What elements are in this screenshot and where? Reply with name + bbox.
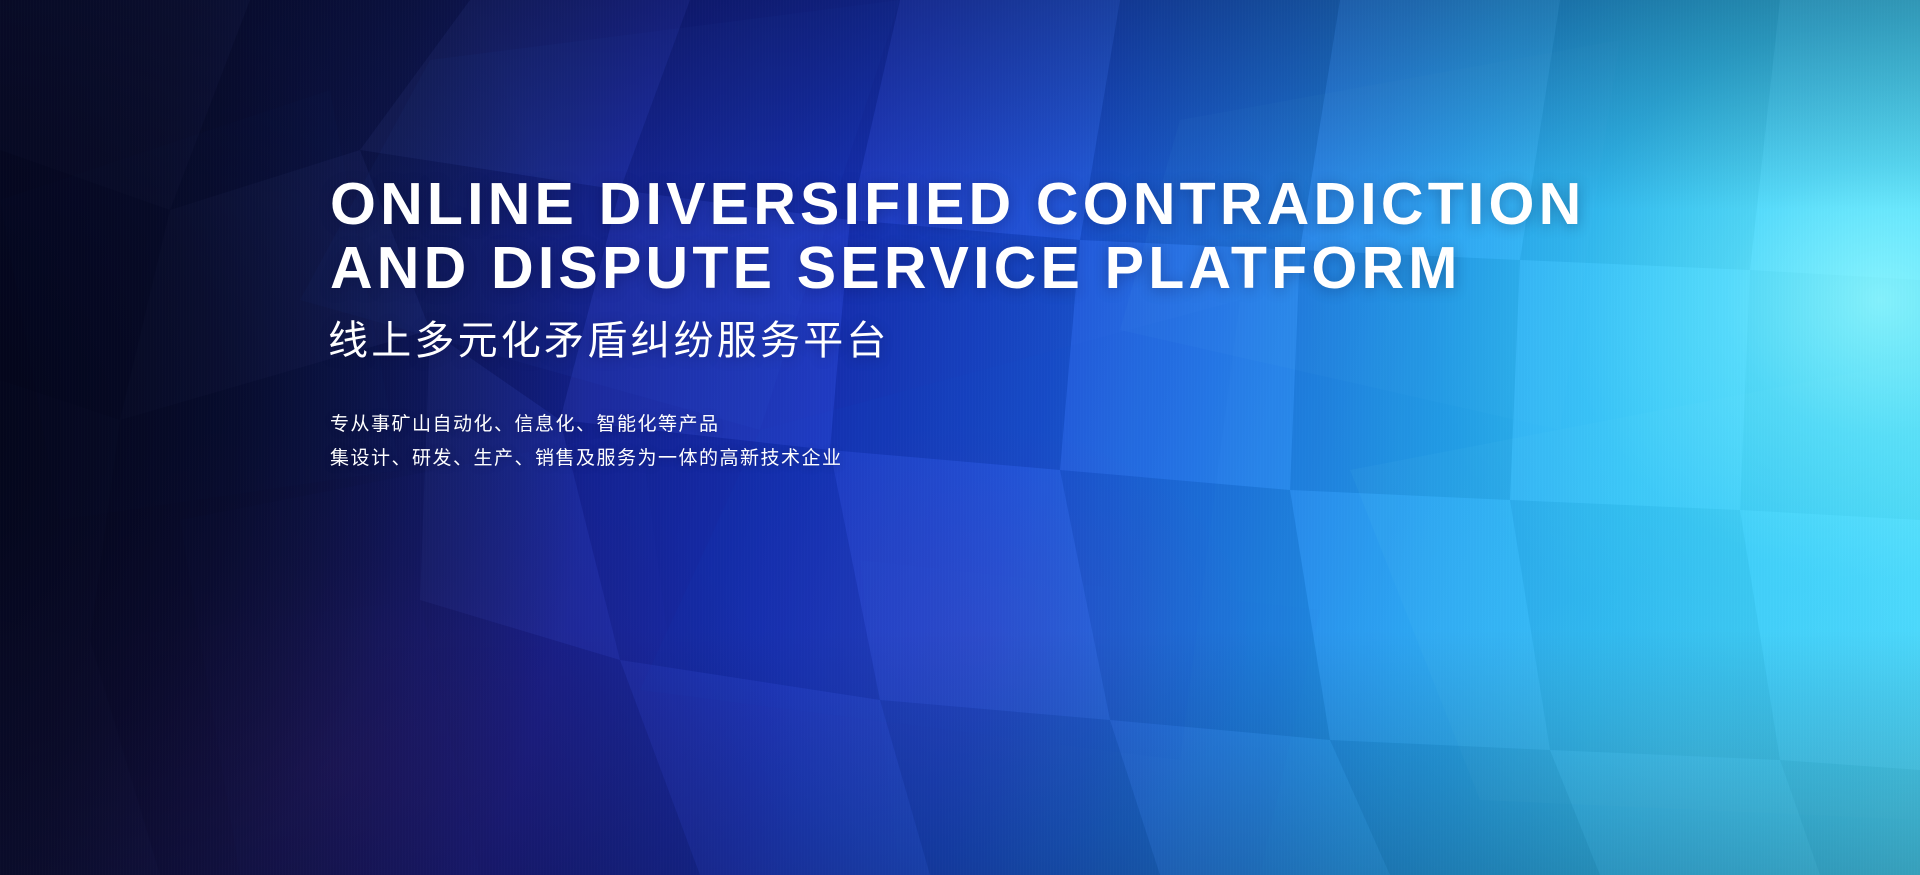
hero-banner: ONLINE DIVERSIFIED CONTRADICTION AND DIS… bbox=[0, 0, 1920, 875]
headline-english: ONLINE DIVERSIFIED CONTRADICTION AND DIS… bbox=[330, 172, 1660, 300]
description-line-1: 专从事矿山自动化、信息化、智能化等产品 bbox=[330, 408, 1660, 442]
subtitle-chinese: 线上多元化矛盾纠纷服务平台 bbox=[328, 317, 1660, 365]
hero-text-block: ONLINE DIVERSIFIED CONTRADICTION AND DIS… bbox=[330, 172, 1660, 476]
description-block: 专从事矿山自动化、信息化、智能化等产品 集设计、研发、生产、销售及服务为一体的高… bbox=[330, 408, 1660, 476]
description-line-2: 集设计、研发、生产、销售及服务为一体的高新技术企业 bbox=[330, 442, 1660, 476]
